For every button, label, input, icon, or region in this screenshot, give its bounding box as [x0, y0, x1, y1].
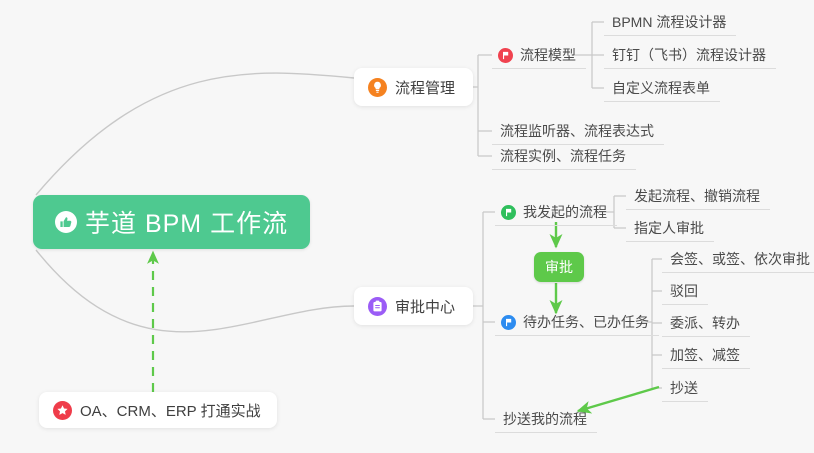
node-label: BPMN 流程设计器: [612, 12, 726, 32]
node-todo-done[interactable]: 待办任务、已办任务: [495, 309, 659, 336]
node-start-cancel[interactable]: 发起流程、撤销流程: [626, 183, 770, 210]
thumbs-up-icon: [55, 211, 77, 233]
node-custom-process-form[interactable]: 自定义流程表单: [604, 75, 720, 102]
branch-approval-center[interactable]: 审批中心: [354, 287, 473, 325]
node-reject[interactable]: 驳回: [662, 278, 708, 305]
node-label: 指定人审批: [634, 218, 704, 238]
node-assignee-approval[interactable]: 指定人审批: [626, 215, 714, 242]
root-label: 芋道 BPM 工作流: [85, 204, 288, 240]
node-counter-or-sequential[interactable]: 会签、或签、依次审批: [662, 246, 814, 273]
node-label: 驳回: [670, 281, 698, 301]
node-label: 流程监听器、流程表达式: [500, 121, 654, 141]
integration-note-label: OA、CRM、ERP 打通实战: [80, 400, 261, 421]
node-label: 待办任务、已办任务: [523, 312, 649, 332]
clipboard-icon: [368, 297, 387, 316]
branch-label: 审批中心: [395, 296, 455, 317]
node-label: 委派、转办: [670, 313, 740, 333]
node-label: 发起流程、撤销流程: [634, 186, 760, 206]
node-instance-task[interactable]: 流程实例、流程任务: [492, 143, 636, 170]
node-my-initiated[interactable]: 我发起的流程: [495, 199, 617, 226]
branch-process-management[interactable]: 流程管理: [354, 68, 473, 106]
node-label: 自定义流程表单: [612, 78, 710, 98]
lightbulb-icon: [368, 78, 387, 97]
node-delegate-transfer[interactable]: 委派、转办: [662, 310, 750, 337]
node-label: 流程模型: [520, 45, 576, 65]
mindmap-canvas: 芋道 BPM 工作流 流程管理 流程模型 BPMN 流程设计器 钉钉（飞书）流程…: [0, 0, 814, 453]
approval-pill-label: 审批: [545, 257, 573, 277]
link-root-to-process-management: [36, 73, 354, 195]
approval-pill[interactable]: 审批: [534, 252, 584, 282]
node-cc[interactable]: 抄送: [662, 375, 708, 402]
root-node[interactable]: 芋道 BPM 工作流: [33, 195, 310, 249]
node-label: 钉钉（飞书）流程设计器: [612, 45, 766, 65]
node-label: 加签、减签: [670, 345, 740, 365]
node-process-model[interactable]: 流程模型: [492, 42, 586, 69]
flag-icon: [501, 315, 516, 330]
flag-icon: [498, 48, 513, 63]
node-label: 我发起的流程: [523, 202, 607, 222]
node-label: 抄送: [670, 378, 698, 398]
node-listener-expression[interactable]: 流程监听器、流程表达式: [492, 118, 664, 145]
branch-label: 流程管理: [395, 77, 455, 98]
star-icon: [53, 401, 72, 420]
node-add-remove-sign[interactable]: 加签、减签: [662, 342, 750, 369]
node-label: 会签、或签、依次审批: [670, 249, 810, 269]
integration-note[interactable]: OA、CRM、ERP 打通实战: [39, 392, 277, 428]
node-label: 抄送我的流程: [503, 409, 587, 429]
node-dingtalk-feishu-designer[interactable]: 钉钉（飞书）流程设计器: [604, 42, 776, 69]
flag-icon: [501, 205, 516, 220]
node-label: 流程实例、流程任务: [500, 146, 626, 166]
node-cc-to-me[interactable]: 抄送我的流程: [495, 406, 597, 433]
node-bpmn-designer[interactable]: BPMN 流程设计器: [604, 9, 736, 36]
link-root-to-approval-center: [36, 250, 354, 332]
